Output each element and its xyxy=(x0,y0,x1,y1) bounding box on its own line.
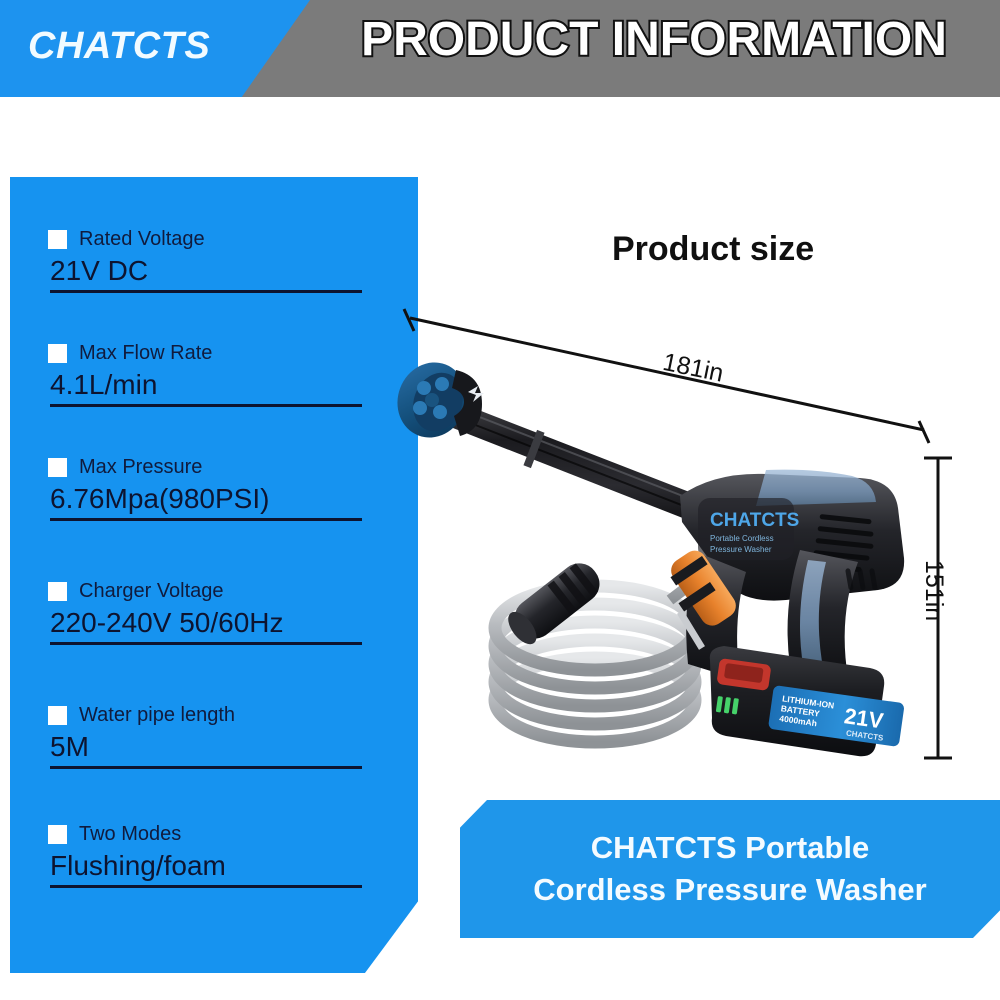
spec-label: Max Flow Rate xyxy=(79,342,212,365)
specifications-panel: Rated Voltage 21V DC Max Flow Rate 4.1L/… xyxy=(10,177,418,973)
square-bullet-icon xyxy=(48,825,67,844)
page-title: PRODUCT INFORMATION xyxy=(318,12,990,67)
brand-logo: CHATCTS xyxy=(28,25,210,68)
spec-label: Two Modes xyxy=(79,823,181,846)
spec-row: Max Pressure 6.76Mpa(980PSI) xyxy=(48,455,378,521)
height-dimension-label: 151in xyxy=(919,560,948,621)
spec-label: Max Pressure xyxy=(79,456,202,479)
caption-line-2: Cordless Pressure Washer xyxy=(533,869,926,911)
spec-value: 5M xyxy=(50,731,378,763)
spec-value: 4.1L/min xyxy=(50,369,378,401)
spec-label: Water pipe length xyxy=(79,704,235,727)
spec-divider xyxy=(50,404,362,407)
spec-heading: Two Modes xyxy=(48,822,378,846)
spec-row: Water pipe length 5M xyxy=(48,703,378,769)
spec-heading: Charger Voltage xyxy=(48,579,378,603)
spec-heading: Max Flow Rate xyxy=(48,341,378,365)
product-body-subtitle-1: Portable Cordless xyxy=(710,534,774,543)
spec-label: Rated Voltage xyxy=(79,228,205,251)
spec-heading: Rated Voltage xyxy=(48,227,378,251)
spec-row: Two Modes Flushing/foam xyxy=(48,822,378,888)
square-bullet-icon xyxy=(48,582,67,601)
spec-row: Max Flow Rate 4.1L/min xyxy=(48,341,378,407)
spec-value: 6.76Mpa(980PSI) xyxy=(50,483,378,515)
product-body-subtitle-2: Pressure Washer xyxy=(710,545,772,554)
spec-divider xyxy=(50,766,362,769)
spec-divider xyxy=(50,885,362,888)
spec-value: 21V DC xyxy=(50,255,378,287)
battery-pack: LITHIUM-ION BATTERY 4000mAh 21V CHATCTS xyxy=(710,646,905,756)
spec-label: Charger Voltage xyxy=(79,580,224,603)
spec-divider xyxy=(50,290,362,293)
spec-value: 220-240V 50/60Hz xyxy=(50,607,378,639)
square-bullet-icon xyxy=(48,458,67,477)
square-bullet-icon xyxy=(48,230,67,249)
product-size-heading: Product size xyxy=(612,230,814,269)
square-bullet-icon xyxy=(48,706,67,725)
spec-value: Flushing/foam xyxy=(50,850,378,882)
product-caption-banner: CHATCTS Portable Cordless Pressure Washe… xyxy=(460,800,1000,938)
spec-row: Charger Voltage 220-240V 50/60Hz xyxy=(48,579,378,645)
spec-heading: Max Pressure xyxy=(48,455,378,479)
spec-row: Rated Voltage 21V DC xyxy=(48,227,378,293)
spec-divider xyxy=(50,642,362,645)
page-header: CHATCTS PRODUCT INFORMATION xyxy=(0,0,1000,97)
square-bullet-icon xyxy=(48,344,67,363)
caption-line-1: CHATCTS Portable xyxy=(591,827,869,869)
product-body-brand: CHATCTS xyxy=(710,510,799,531)
spec-divider xyxy=(50,518,362,521)
spec-heading: Water pipe length xyxy=(48,703,378,727)
